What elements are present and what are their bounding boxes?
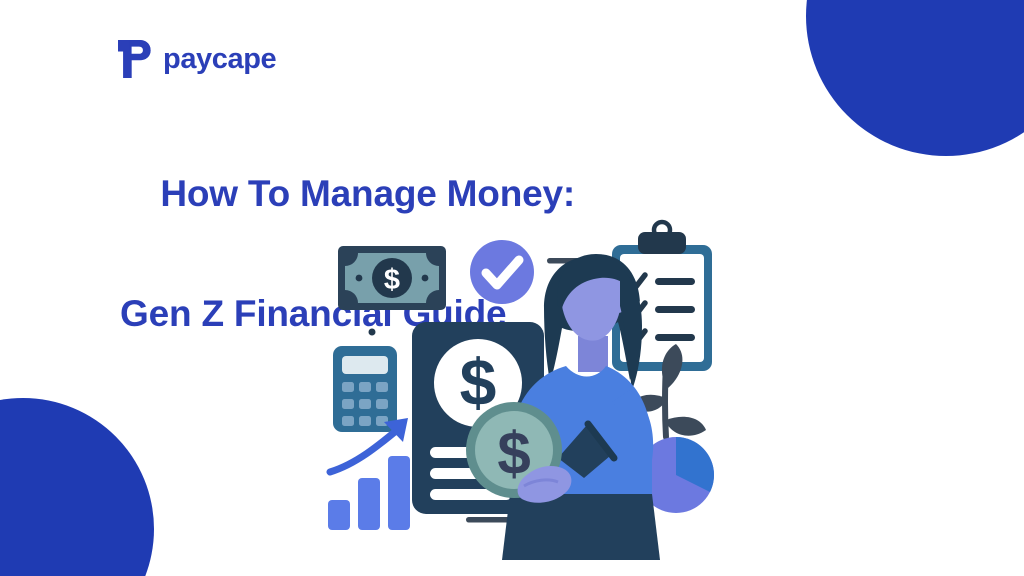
decorative-circle-top-right [806,0,1024,156]
calculator-icon [333,346,397,432]
dot-accent [369,329,376,336]
banknote-icon: $ [338,246,446,310]
bar-chart-growth-icon [328,418,410,530]
brand-name: paycape [163,45,276,74]
svg-text:$: $ [384,264,400,296]
paycape-p-mark-icon [118,40,151,78]
page-title-line-1: How To Manage Money: [160,173,575,214]
page-canvas: paycape How To Manage Money: Gen Z Finan… [0,0,1024,576]
personal-finance-illustration: $ [300,210,770,560]
svg-text:$: $ [460,345,497,419]
check-circle-icon [470,240,534,304]
brand-logo[interactable]: paycape [118,40,276,78]
dash-accent-bottom [466,517,510,523]
